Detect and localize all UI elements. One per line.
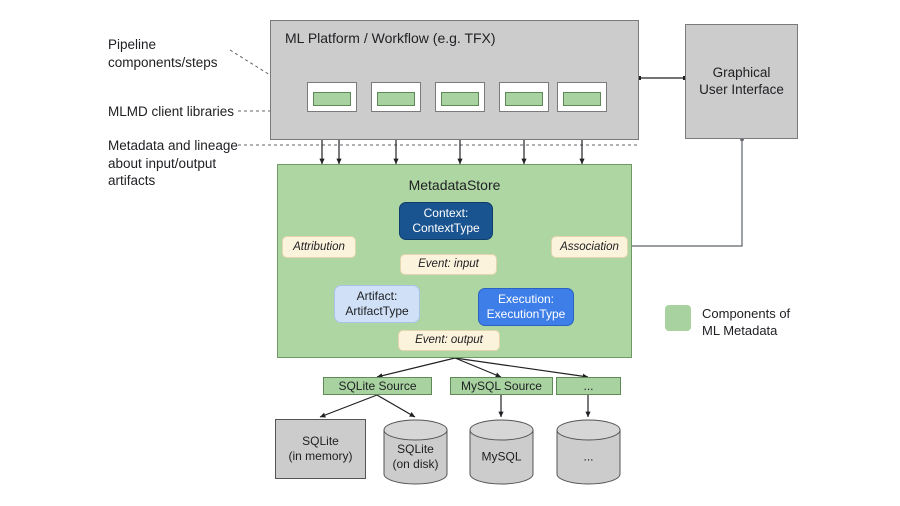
event-input-label: Event: input [418, 257, 479, 271]
legend-line1: Components of [702, 306, 832, 323]
mlmd-client-library-3[interactable] [441, 92, 479, 106]
annotation-mlmd-client-libraries: MLMD client libraries [108, 103, 268, 121]
store-to-sources-arrows [377, 358, 588, 377]
legend-swatch [665, 305, 691, 331]
context-node[interactable]: Context: ContextType [399, 202, 493, 240]
graphical-user-interface-box[interactable]: Graphical User Interface [685, 24, 798, 139]
diagram-canvas: Pipeline components/steps MLMD client li… [0, 0, 900, 506]
sqlite-in-memory-line1: SQLite [302, 434, 339, 449]
mlmd-client-library-1[interactable] [313, 92, 351, 106]
pipeline-step-1[interactable] [307, 82, 357, 112]
attribution-label: Attribution [293, 240, 345, 254]
annotation-line: MLMD client libraries [108, 103, 268, 121]
sqlite-source-label: SQLite Source [338, 379, 416, 394]
mysql-db[interactable]: MySQL [469, 419, 534, 485]
association-chip[interactable]: Association [551, 236, 628, 258]
sqlite-in-memory-db[interactable]: SQLite (in memory) [275, 419, 366, 479]
metadata-store-title: MetadataStore [278, 177, 631, 194]
context-label-line2: ContextType [412, 221, 479, 236]
legend-line2: ML Metadata [702, 323, 832, 340]
attribution-chip[interactable]: Attribution [282, 236, 356, 258]
gui-label-line1: Graphical [713, 65, 771, 81]
gui-label-line2: User Interface [699, 82, 784, 98]
sqlite-source-box[interactable]: SQLite Source [323, 377, 432, 395]
event-input-chip[interactable]: Event: input [400, 254, 497, 275]
execution-label-line2: ExecutionType [487, 307, 566, 322]
sqlite-in-memory-line2: (in memory) [288, 449, 352, 464]
artifact-node[interactable]: Artifact: ArtifactType [334, 285, 420, 323]
annotation-line: Metadata and lineage [108, 137, 268, 155]
other-db[interactable]: ... [556, 419, 621, 485]
sources-to-databases-arrows [320, 395, 588, 417]
other-source-label: ... [583, 379, 593, 394]
event-output-chip[interactable]: Event: output [398, 330, 500, 351]
annotation-pipeline-components: Pipeline components/steps [108, 36, 258, 71]
association-label: Association [560, 240, 619, 254]
mysql-source-box[interactable]: MySQL Source [450, 377, 553, 395]
sqlite-on-disk-db[interactable]: SQLite (on disk) [383, 419, 448, 485]
pipeline-step-4[interactable] [499, 82, 549, 112]
ml-platform-title: ML Platform / Workflow (e.g. TFX) [285, 30, 496, 47]
ml-platform-box[interactable]: ML Platform / Workflow (e.g. TFX) [270, 20, 639, 140]
artifact-label-line1: Artifact: [357, 289, 398, 304]
legend-text: Components of ML Metadata [702, 306, 832, 340]
artifact-label-line2: ArtifactType [345, 304, 408, 319]
pipeline-step-3[interactable] [435, 82, 485, 112]
execution-label-line1: Execution: [498, 292, 554, 307]
mlmd-client-library-2[interactable] [377, 92, 415, 106]
execution-node[interactable]: Execution: ExecutionType [478, 288, 574, 326]
mysql-source-label: MySQL Source [461, 379, 542, 394]
context-label-line1: Context: [424, 206, 469, 221]
pipeline-step-5[interactable] [557, 82, 607, 112]
event-output-label: Event: output [415, 333, 483, 347]
annotation-line: components/steps [108, 54, 258, 72]
annotation-line: Pipeline [108, 36, 258, 54]
annotation-metadata-lineage: Metadata and lineage about input/output … [108, 137, 268, 190]
pipeline-step-2[interactable] [371, 82, 421, 112]
annotation-line: about input/output [108, 155, 268, 173]
mlmd-client-library-5[interactable] [563, 92, 601, 106]
annotation-line: artifacts [108, 172, 268, 190]
association-gui-link [628, 139, 742, 246]
other-source-box[interactable]: ... [556, 377, 621, 395]
mlmd-client-library-4[interactable] [505, 92, 543, 106]
